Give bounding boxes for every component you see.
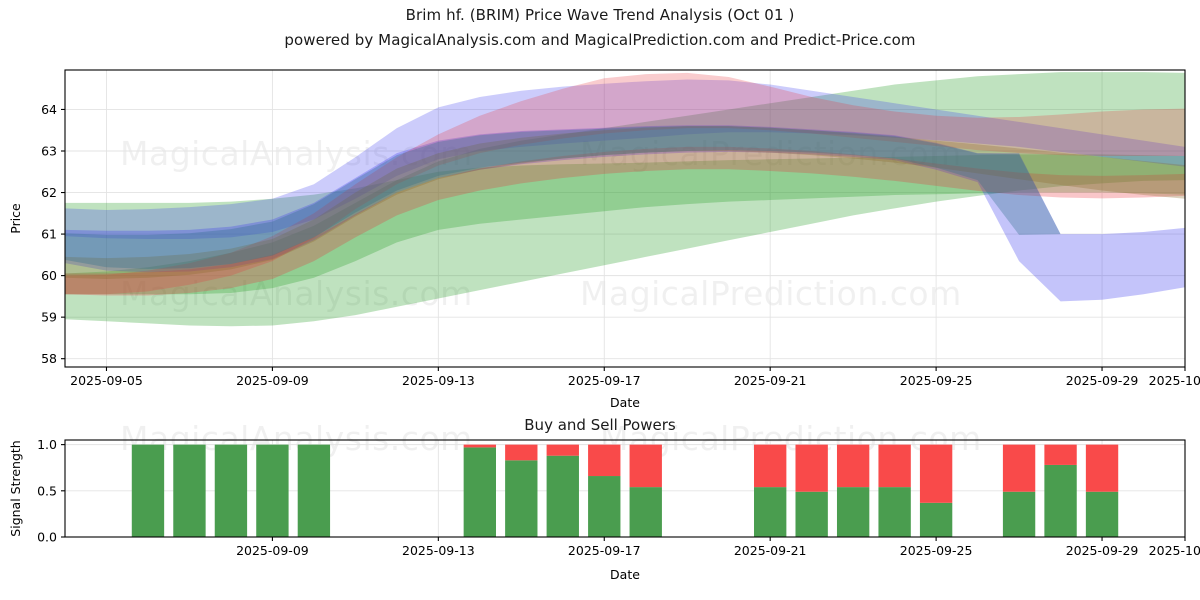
x-tick-label: 2025-09-29 [1066, 373, 1139, 388]
bar-buy-power[interactable] [173, 445, 205, 537]
bar-buy-power[interactable] [878, 487, 910, 537]
x-tick-label: 2025-09-09 [236, 373, 309, 388]
bar-sell-power[interactable] [1086, 445, 1118, 492]
bar-buy-power[interactable] [754, 487, 786, 537]
x-tick-label: 2025-09-17 [568, 373, 641, 388]
x-tick-label: 2025-09-25 [900, 373, 973, 388]
y-tick-label: 0.0 [37, 530, 57, 545]
bar-buy-power[interactable] [1044, 465, 1076, 537]
bar-buy-power[interactable] [630, 487, 662, 537]
bar-buy-power[interactable] [256, 445, 288, 537]
bar-buy-power[interactable] [464, 447, 496, 537]
bar-sell-power[interactable] [464, 445, 496, 448]
y-tick-label: 1.0 [37, 437, 57, 452]
x-tick-label: 2025-09-13 [402, 373, 475, 388]
bar-buy-power[interactable] [588, 476, 620, 537]
watermark-text: MagicalPrediction.com [580, 274, 962, 313]
bar-buy-power[interactable] [1003, 492, 1035, 537]
y-tick-label: 64 [41, 102, 57, 117]
y-tick-label: 61 [41, 227, 57, 242]
y-tick-label: 62 [41, 185, 57, 200]
x-tick-label: 2025-09-13 [402, 543, 475, 558]
bar-sell-power[interactable] [588, 445, 620, 476]
watermark-text: MagicalAnalysis.com [120, 419, 473, 458]
page-subtitle: powered by MagicalAnalysis.com and Magic… [0, 31, 1200, 49]
price-chart-panel: MagicalAnalysis.comMagicalPrediction.com… [0, 60, 1200, 405]
bar-buy-power[interactable] [795, 492, 827, 537]
x-tick-label: 2025-09-21 [734, 543, 807, 558]
bar-sell-power[interactable] [1044, 445, 1076, 465]
x-tick-label: 2025-09-21 [734, 373, 807, 388]
bar-sell-power[interactable] [754, 445, 786, 488]
bar-buy-power[interactable] [837, 487, 869, 537]
y-axis-title: Signal Strength [8, 440, 23, 536]
x-axis-title: Date [610, 567, 640, 582]
x-tick-label: 2025-10-01 [1149, 543, 1200, 558]
y-tick-label: 58 [41, 351, 57, 366]
y-tick-label: 0.5 [37, 483, 57, 498]
bar-sell-power[interactable] [630, 445, 662, 488]
page-title: Brim hf. (BRIM) Price Wave Trend Analysi… [0, 6, 1200, 24]
x-tick-label: 2025-09-09 [236, 543, 309, 558]
x-tick-label: 2025-09-29 [1066, 543, 1139, 558]
y-tick-label: 60 [41, 268, 57, 283]
chart-page: Brim hf. (BRIM) Price Wave Trend Analysi… [0, 0, 1200, 600]
bar-buy-power[interactable] [505, 460, 537, 537]
signal-chart-panel: Buy and Sell PowersMagicalAnalysis.comMa… [0, 405, 1200, 600]
y-tick-label: 59 [41, 310, 57, 325]
bar-sell-power[interactable] [837, 445, 869, 488]
x-tick-label: 2025-09-25 [900, 543, 973, 558]
bar-buy-power[interactable] [132, 445, 164, 537]
x-tick-label: 2025-09-05 [70, 373, 143, 388]
bar-buy-power[interactable] [547, 456, 579, 537]
bar-sell-power[interactable] [1003, 445, 1035, 492]
bar-buy-power[interactable] [1086, 492, 1118, 537]
x-tick-label: 2025-09-17 [568, 543, 641, 558]
bar-buy-power[interactable] [298, 445, 330, 537]
bar-sell-power[interactable] [795, 445, 827, 492]
signal-chart-svg: Buy and Sell PowersMagicalAnalysis.comMa… [0, 405, 1200, 600]
bar-sell-power[interactable] [878, 445, 910, 488]
y-axis-title: Price [8, 203, 23, 234]
bar-buy-power[interactable] [215, 445, 247, 537]
bar-sell-power[interactable] [920, 445, 952, 503]
y-tick-label: 63 [41, 144, 57, 159]
price-chart-svg: MagicalAnalysis.comMagicalPrediction.com… [0, 60, 1200, 405]
bar-buy-power[interactable] [920, 503, 952, 537]
x-tick-label: 2025-10-01 [1149, 373, 1200, 388]
bar-sell-power[interactable] [547, 445, 579, 456]
bar-sell-power[interactable] [505, 445, 537, 461]
